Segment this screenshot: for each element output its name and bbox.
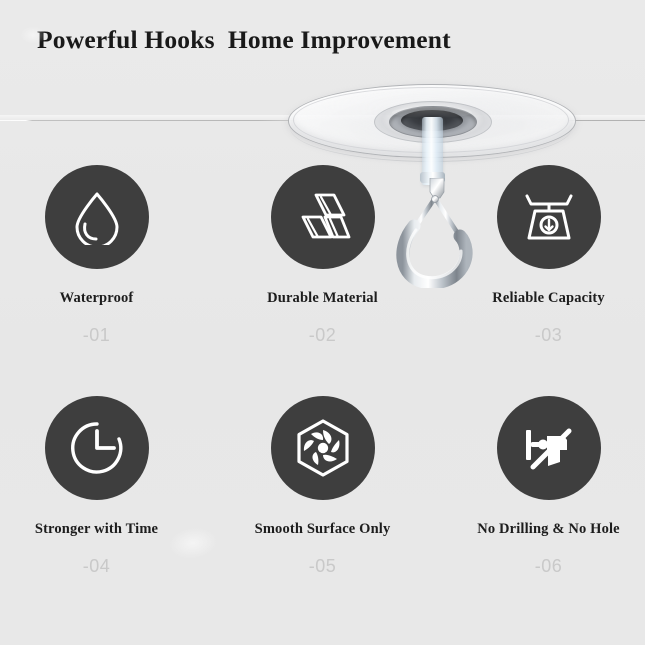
feature-number: -04 <box>0 556 193 577</box>
feature-label: Durable Material <box>226 290 419 307</box>
feature-icon-circle <box>497 165 601 269</box>
water-drop-icon <box>72 189 122 245</box>
feature-icon-circle <box>271 165 375 269</box>
feature-number: -01 <box>0 325 193 346</box>
clock-icon <box>69 420 125 476</box>
feature-item-smooth-surface-only: Smooth Surface Only -05 <box>226 396 419 577</box>
feature-item-stronger-with-time: Stronger with Time -04 <box>0 396 193 577</box>
feature-item-durable-material: Durable Material -02 <box>226 165 419 346</box>
feature-number: -03 <box>452 325 645 346</box>
feature-label: No Drilling & No Hole <box>452 521 645 538</box>
feature-number: -02 <box>226 325 419 346</box>
feature-item-waterproof: Waterproof -01 <box>0 165 193 346</box>
feature-grid: Waterproof -01 Dur <box>0 0 645 645</box>
hexagon-pinwheel-icon <box>294 418 352 478</box>
feature-item-no-drilling: No Drilling & No Hole -06 <box>452 396 645 577</box>
feature-icon-circle <box>45 165 149 269</box>
feature-icon-circle <box>271 396 375 500</box>
feature-number: -05 <box>226 556 419 577</box>
feature-icon-circle <box>497 396 601 500</box>
feature-icon-circle <box>45 396 149 500</box>
feature-label: Stronger with Time <box>0 521 193 538</box>
metal-bars-icon <box>294 191 352 243</box>
product-infographic: Powerful Hooks Home Improvement <box>0 0 645 645</box>
feature-label: Waterproof <box>0 290 193 307</box>
weighing-scale-icon <box>521 190 577 244</box>
feature-label: Smooth Surface Only <box>226 521 419 538</box>
no-drill-icon <box>520 420 578 476</box>
feature-number: -06 <box>452 556 645 577</box>
feature-label: Reliable Capacity <box>452 290 645 307</box>
feature-item-reliable-capacity: Reliable Capacity -03 <box>452 165 645 346</box>
